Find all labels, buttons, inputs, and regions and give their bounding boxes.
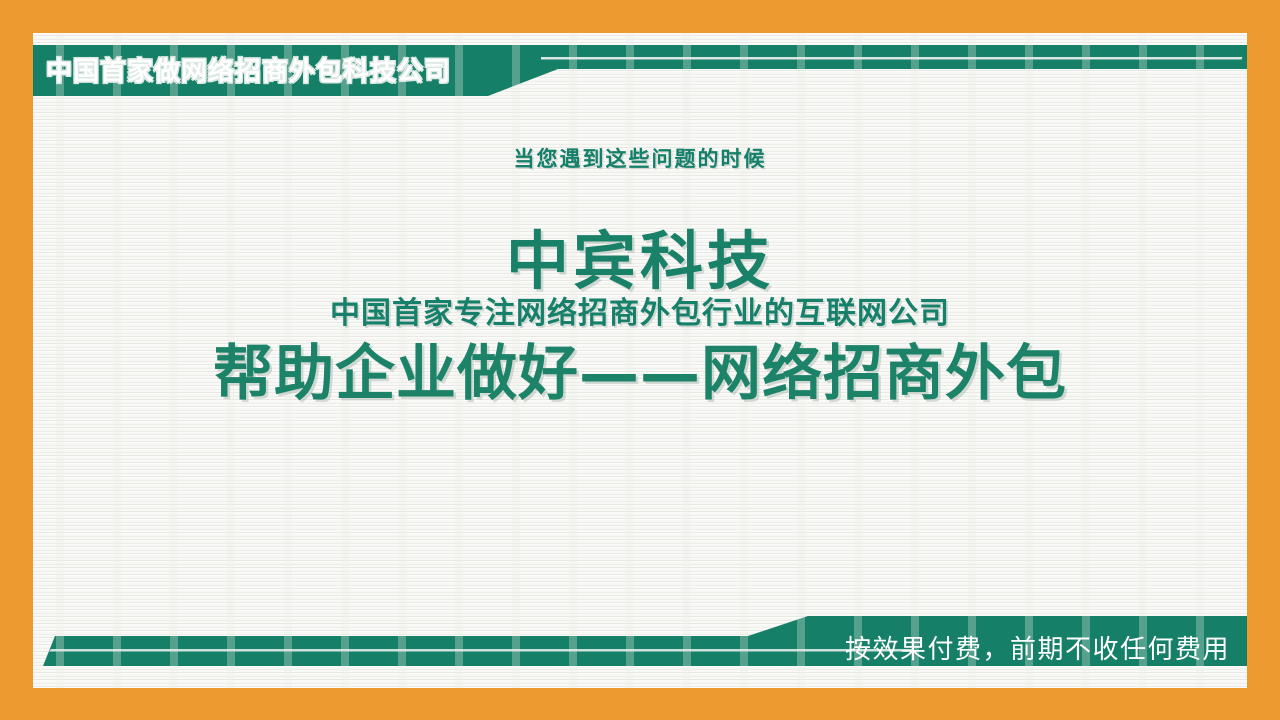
- header-title: 中国首家做网络招商外包科技公司: [46, 51, 451, 88]
- headline-text: 帮助企业做好——网络招商外包: [33, 340, 1247, 409]
- slide-paper-panel: 中国首家做网络招商外包科技公司 当您遇到这些问题的时候 中宾科技 中国首家专注网…: [33, 33, 1247, 688]
- eyebrow-text: 当您遇到这些问题的时候: [33, 143, 1247, 173]
- tagline-text: 中国首家专注网络招商外包行业的互联网公司: [33, 297, 1247, 332]
- slide-root: 中国首家做网络招商外包科技公司 当您遇到这些问题的时候 中宾科技 中国首家专注网…: [0, 0, 1280, 720]
- brand-name: 中宾科技: [33, 229, 1247, 295]
- footer-text: 按效果付费，前期不收任何费用: [845, 629, 1230, 666]
- slide-content: 当您遇到这些问题的时候 中宾科技 中国首家专注网络招商外包行业的互联网公司 帮助…: [33, 143, 1247, 409]
